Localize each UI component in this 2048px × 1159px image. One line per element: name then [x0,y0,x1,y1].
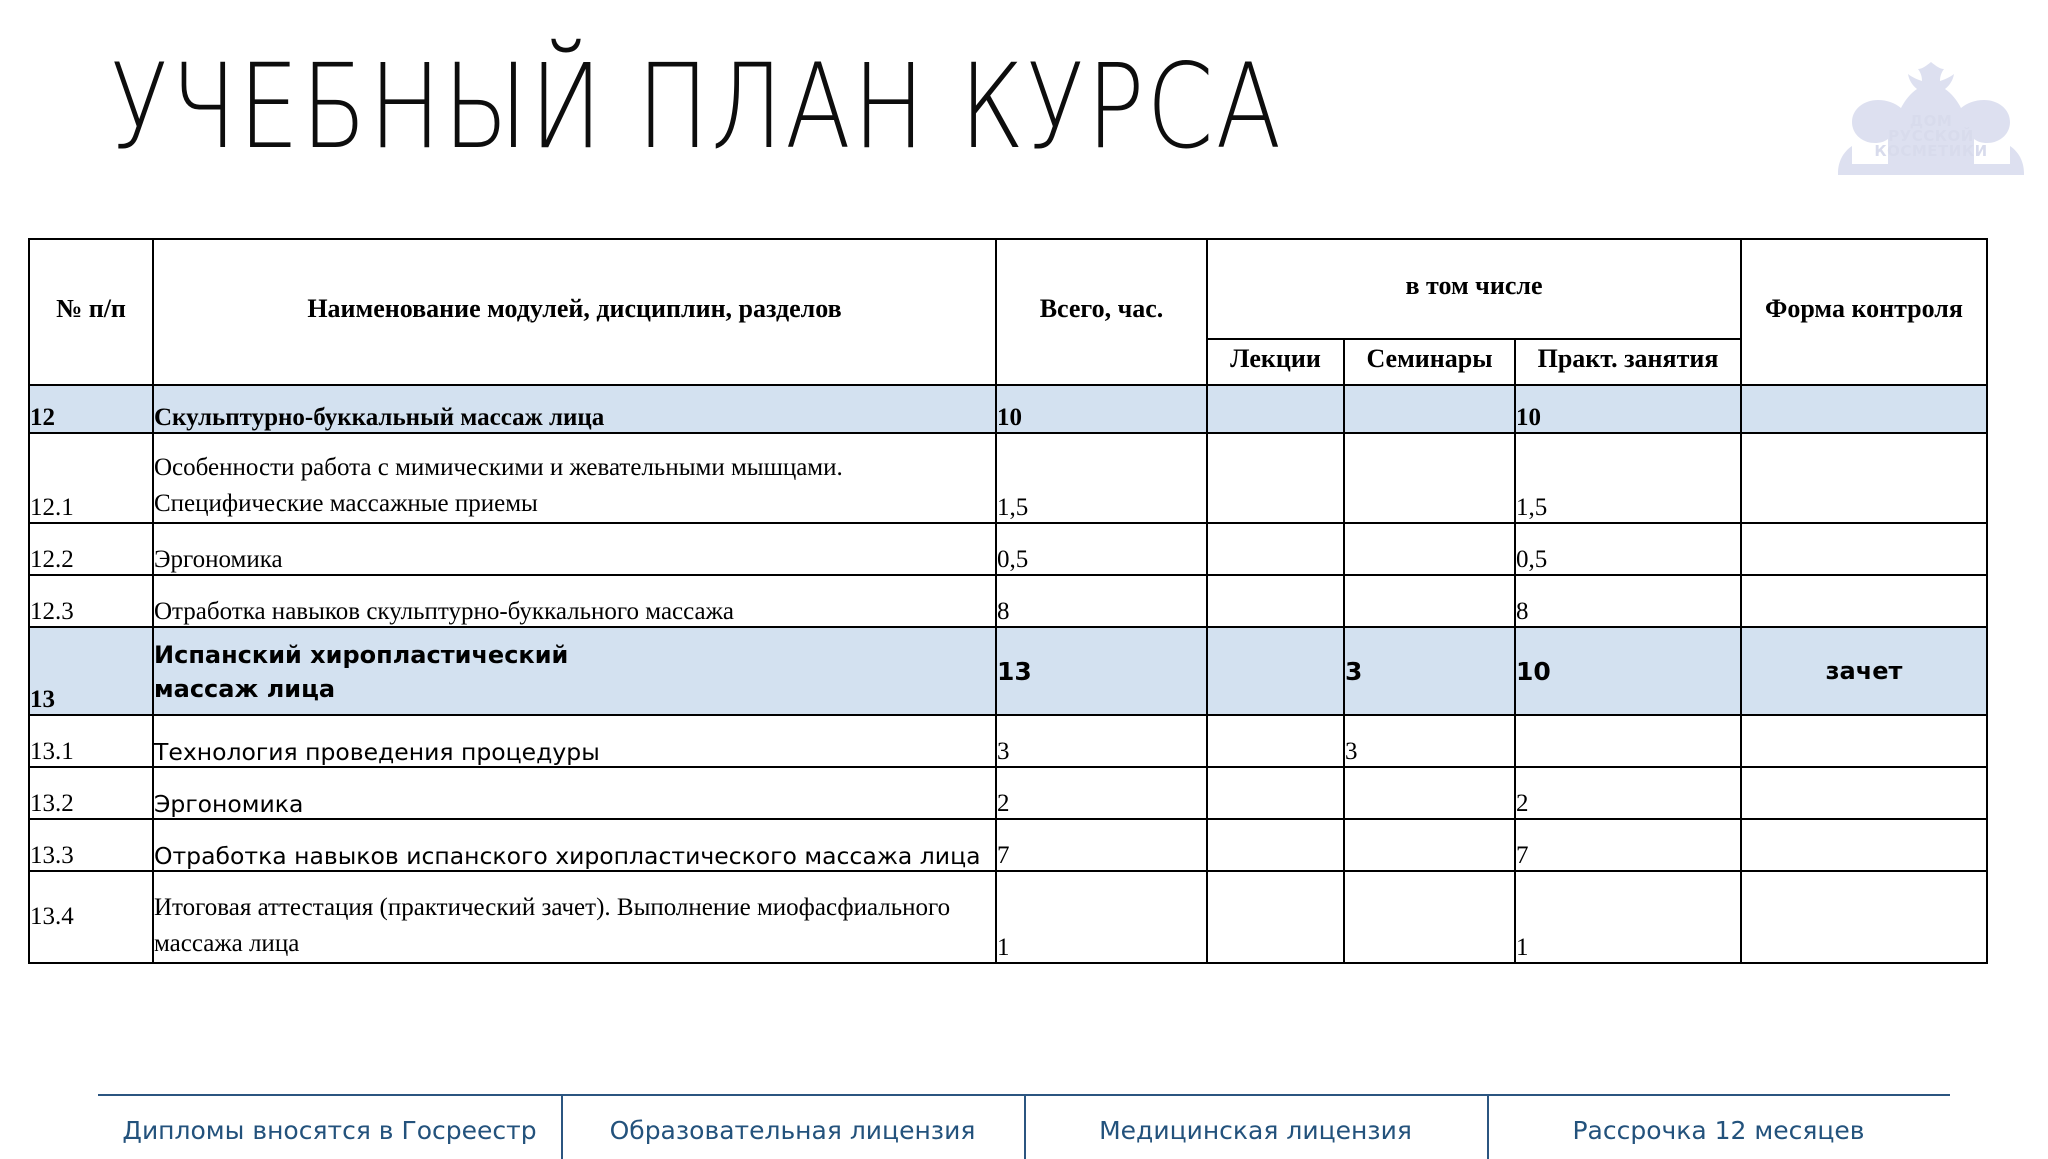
table-row: 12.3 Отработка навыков скульптурно-букка… [29,575,1987,627]
logo-line-3: КОСМЕТИКИ [1838,144,2024,159]
cell-number: 13 [29,627,153,715]
cell-lectures [1207,715,1344,767]
table-row: 13.2 Эргономика 2 2 [29,767,1987,819]
cell-practice: 1 [1515,871,1741,963]
cell-total: 1 [996,871,1207,963]
cell-lectures [1207,627,1344,715]
th-seminars: Семинары [1344,339,1515,385]
table-row: 12.1 Особенности работа с мимическими и … [29,433,1987,523]
cell-control [1741,523,1987,575]
table-body: 12 Скульптурно-буккальный массаж лица 10… [29,385,1987,963]
cell-practice: 7 [1515,819,1741,871]
footer-item-gosreestr: Дипломы вносятся в Госреестр [98,1096,561,1145]
cell-control [1741,433,1987,523]
cell-control [1741,871,1987,963]
th-number: № п/п [29,239,153,385]
cell-module-name: Особенности работа с мимическими и жеват… [153,433,996,523]
cell-seminars [1344,575,1515,627]
table-header: № п/п Наименование модулей, дисциплин, р… [29,239,1987,385]
cell-practice: 2 [1515,767,1741,819]
cell-seminars [1344,871,1515,963]
cell-practice: 10 [1515,385,1741,433]
table-row: 13.1 Технология проведения процедуры 3 3 [29,715,1987,767]
cell-module-name: Эргономика [153,523,996,575]
cell-lectures [1207,767,1344,819]
footer-benefits-bar: Дипломы вносятся в Госреестр Образовател… [98,1094,1950,1145]
th-module-name: Наименование модулей, дисциплин, раздело… [153,239,996,385]
cell-module-name: Испанский хиропластический массаж лица [153,627,996,715]
cell-lectures [1207,385,1344,433]
cell-control: зачет [1741,627,1987,715]
cell-number: 12 [29,385,153,433]
footer-item-installment: Рассрочка 12 месяцев [1487,1096,1950,1145]
cell-seminars [1344,767,1515,819]
cell-number: 12.1 [29,433,153,523]
cell-control [1741,385,1987,433]
cell-total: 1,5 [996,433,1207,523]
cell-total: 7 [996,819,1207,871]
cell-control [1741,715,1987,767]
cell-seminars: 3 [1344,715,1515,767]
cell-module-name: Отработка навыков скульптурно-буккальног… [153,575,996,627]
cell-practice: 1,5 [1515,433,1741,523]
cell-lectures [1207,871,1344,963]
cell-practice [1515,715,1741,767]
th-lectures: Лекции [1207,339,1344,385]
th-practice: Практ. занятия [1515,339,1741,385]
cell-total: 8 [996,575,1207,627]
logo-wordmark: ДОМ РУССКОЙ КОСМЕТИКИ [1838,114,2024,159]
cell-lectures [1207,523,1344,575]
cell-seminars [1344,523,1515,575]
cell-lectures [1207,575,1344,627]
cell-total: 2 [996,767,1207,819]
cell-control [1741,767,1987,819]
cell-module-name-line-2: массаж лица [154,672,995,706]
cell-module-name: Технология проведения процедуры [153,715,996,767]
cell-number: 13.2 [29,767,153,819]
table-row: 12 Скульптурно-буккальный массаж лица 10… [29,385,1987,433]
cell-practice: 0,5 [1515,523,1741,575]
table-row: 13.4 Итоговая аттестация (практический з… [29,871,1987,963]
footer-item-education-license: Образовательная лицензия [561,1096,1024,1145]
cell-module-name: Отработка навыков испанского хиропластич… [153,819,996,871]
cell-lectures [1207,819,1344,871]
cell-number: 12.3 [29,575,153,627]
cell-practice: 10 [1515,627,1741,715]
cell-module-name: Эргономика [153,767,996,819]
cell-number: 13.1 [29,715,153,767]
cell-seminars [1344,433,1515,523]
cell-total: 10 [996,385,1207,433]
table-row: 12.2 Эргономика 0,5 0,5 [29,523,1987,575]
table-row: 13 Испанский хиропластический массаж лиц… [29,627,1987,715]
cell-lectures [1207,433,1344,523]
cell-total: 0,5 [996,523,1207,575]
cell-seminars [1344,385,1515,433]
header-row-1: № п/п Наименование модулей, дисциплин, р… [29,239,1987,339]
curriculum-table-wrapper: № п/п Наименование модулей, дисциплин, р… [28,238,1986,964]
cell-practice: 8 [1515,575,1741,627]
cell-module-name: Итоговая аттестация (практический зачет)… [153,871,996,963]
th-control-form: Форма контроля [1741,239,1987,385]
cell-number: 13.4 [29,871,153,963]
cell-total: 13 [996,627,1207,715]
cell-module-name: Скульптурно-буккальный массаж лица [153,385,996,433]
cell-number: 13.3 [29,819,153,871]
cell-control [1741,819,1987,871]
cell-control [1741,575,1987,627]
footer-item-medical-license: Медицинская лицензия [1024,1096,1487,1145]
page-title: УЧЕБНЫЙ ПЛАН КУРСА [110,48,1283,165]
table-row: 13.3 Отработка навыков испанского хиропл… [29,819,1987,871]
cell-number: 12.2 [29,523,153,575]
cell-total: 3 [996,715,1207,767]
curriculum-table: № п/п Наименование модулей, дисциплин, р… [28,238,1988,964]
cell-seminars [1344,819,1515,871]
brand-logo: ДОМ РУССКОЙ КОСМЕТИКИ [1838,56,2024,180]
th-total-hours: Всего, час. [996,239,1207,385]
cell-seminars: 3 [1344,627,1515,715]
cell-module-name-line-1: Испанский хиропластический [154,638,995,672]
th-group-including: в том числе [1207,239,1741,339]
